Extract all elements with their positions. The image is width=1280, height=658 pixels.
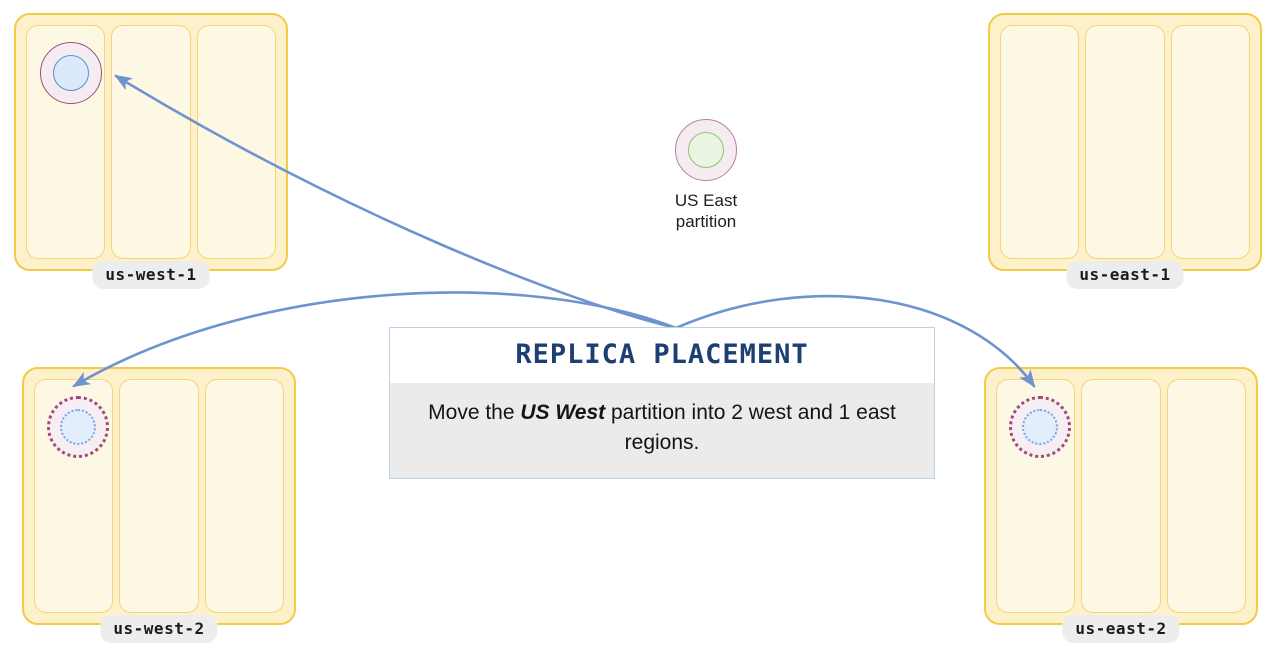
- availability-zone[interactable]: [1085, 25, 1164, 259]
- replica-placement-card: REPLICA PLACEMENT Move the US West parti…: [389, 327, 935, 479]
- replica-placeholder-core: [1022, 409, 1058, 445]
- replica-placeholder-us-east-2[interactable]: [1009, 396, 1071, 458]
- card-body-emphasis: US West: [520, 401, 605, 424]
- us-east-partition-caption-line2: partition: [646, 211, 766, 232]
- us-east-partition-node[interactable]: [675, 119, 737, 181]
- replica-placeholder-us-west-2[interactable]: [47, 396, 109, 458]
- card-body: Move the US West partition into 2 west a…: [390, 383, 934, 478]
- availability-zone[interactable]: [197, 25, 276, 259]
- replica-node-us-west-1[interactable]: [40, 42, 102, 104]
- us-east-partition-core: [688, 132, 724, 168]
- region-label-us-east-1: us-east-1: [1066, 261, 1183, 289]
- region-us-east-1[interactable]: us-east-1: [988, 13, 1262, 271]
- availability-zone[interactable]: [1171, 25, 1250, 259]
- us-east-partition-group: US East partition: [646, 119, 766, 233]
- replica-placeholder-core: [60, 409, 96, 445]
- availability-zone[interactable]: [119, 379, 198, 613]
- us-east-partition-caption: US East partition: [646, 190, 766, 233]
- card-title: REPLICA PLACEMENT: [390, 328, 934, 383]
- region-label-us-east-2: us-east-2: [1062, 615, 1179, 643]
- availability-zone[interactable]: [1081, 379, 1160, 613]
- availability-zone[interactable]: [205, 379, 284, 613]
- card-body-suffix: partition into 2 west and 1 east regions…: [605, 401, 896, 454]
- availability-zone[interactable]: [1167, 379, 1246, 613]
- card-body-prefix: Move the: [428, 401, 520, 424]
- availability-zone[interactable]: [111, 25, 190, 259]
- availability-zone[interactable]: [1000, 25, 1079, 259]
- region-label-us-west-2: us-west-2: [100, 615, 217, 643]
- us-east-partition-caption-line1: US East: [646, 190, 766, 211]
- region-label-us-west-1: us-west-1: [92, 261, 209, 289]
- replica-node-core: [53, 55, 89, 91]
